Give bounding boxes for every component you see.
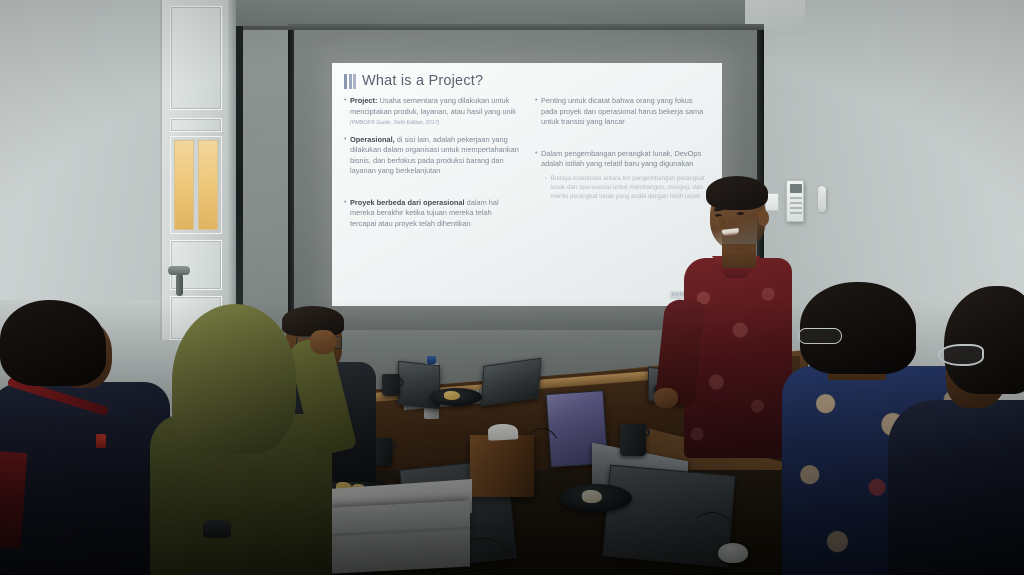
slide-title-accent-bars <box>344 74 356 89</box>
computer-mouse[interactable] <box>718 543 748 563</box>
bullet-dot-icon: • <box>545 175 547 202</box>
bullet-dot-icon: • <box>535 149 537 170</box>
attendee-e-torso <box>888 400 1024 575</box>
snack-plate-2[interactable] <box>560 484 632 512</box>
projected-slide: What is a Project? • Project: Usaha seme… <box>332 63 722 306</box>
door-panel-top <box>170 6 222 110</box>
presenter-hair <box>706 176 768 210</box>
ac-button-row-1[interactable] <box>790 197 802 199</box>
slide-title-row: What is a Project? <box>344 73 710 89</box>
presenter-batik-shirt <box>684 258 792 458</box>
snack-plate-3[interactable] <box>430 388 482 406</box>
attendee-b-hijab <box>172 304 296 454</box>
bullet-lead-proyek-berbeda: Proyek berbeda dari operasional <box>350 198 465 207</box>
slide-bullet-proyek-berbeda: • Proyek berbeda dari operasional dalam … <box>344 198 519 230</box>
slide-spacer <box>344 184 519 198</box>
slide-bullet-devops: • Dalam pengembangan perangkat lunak, De… <box>535 149 710 170</box>
presenter-eye-right <box>737 212 744 215</box>
bullet-dot-icon: • <box>535 96 537 128</box>
ac-button-row-2[interactable] <box>790 202 802 204</box>
door-lock[interactable] <box>176 274 183 296</box>
presenter-hand <box>654 388 678 408</box>
bullet-dot-icon: • <box>344 96 346 128</box>
bullet-citation-pmbok: (PMBOK® Guide, Sixth Edition, 2017) <box>350 120 439 126</box>
subbullet-text-devops-culture: Budaya kolaborasi antara tim pengembanga… <box>550 175 710 202</box>
attendee-e-eyeglasses <box>938 344 984 366</box>
meeting-room-scene: What is a Project? • Project: Usaha seme… <box>0 0 1024 575</box>
door-glass-left <box>174 140 194 230</box>
slide-spacer <box>535 135 710 149</box>
attendee-a-badge <box>96 434 106 448</box>
door-panel-mid <box>170 118 222 132</box>
slide-title: What is a Project? <box>362 73 483 89</box>
attendee-b-hand <box>310 330 336 354</box>
ac-button-row-4[interactable] <box>790 212 802 214</box>
bullet-dot-icon: • <box>344 198 346 230</box>
snack-item <box>444 391 460 400</box>
paneled-door[interactable] <box>160 0 230 340</box>
slide-bullet-penting: • Penting untuk dicatat bahwa orang yang… <box>535 96 710 128</box>
bottle-cap <box>427 356 436 364</box>
attendee-a-hair <box>0 300 106 386</box>
slide-left-column: • Project: Usaha sementara yang dilakuka… <box>344 96 519 236</box>
attendee-d-eyeglasses <box>798 328 842 344</box>
door-glass-panels <box>170 136 222 234</box>
ac-remote-panel[interactable] <box>786 180 804 222</box>
ac-button-row-3[interactable] <box>790 207 802 209</box>
bullet-text-devops: Dalam pengembangan perangkat lunak, DevO… <box>541 149 710 170</box>
presenter-ear <box>758 210 769 226</box>
attendee-b-wristwatch <box>203 520 231 538</box>
bullet-dot-icon: • <box>344 135 346 177</box>
coffee-mug-1[interactable] <box>382 374 400 396</box>
slide-bullet-operasional: • Operasional, di sisi lain, adalah peke… <box>344 135 519 177</box>
bullet-lead-project: Project: <box>350 96 378 105</box>
motion-sensor <box>818 186 826 212</box>
slide-subbullet-devops-culture: • Budaya kolaborasi antara tim pengemban… <box>545 175 710 202</box>
ac-panel-display <box>790 184 802 193</box>
snack-item <box>582 490 602 503</box>
slide-right-column: • Penting untuk dicatat bahwa orang yang… <box>535 96 710 236</box>
bullet-text-penting: Penting untuk dicatat bahwa orang yang f… <box>541 96 710 128</box>
tissue-sheet[interactable] <box>488 423 519 441</box>
wall-corner-shadow <box>236 26 243 326</box>
bullet-lead-operasional: Operasional, <box>350 135 395 144</box>
slide-bullet-project: • Project: Usaha sementara yang dilakuka… <box>344 96 519 128</box>
door-frame <box>228 0 236 340</box>
door-glass-right <box>198 140 218 230</box>
coffee-mug-2[interactable] <box>620 424 646 456</box>
